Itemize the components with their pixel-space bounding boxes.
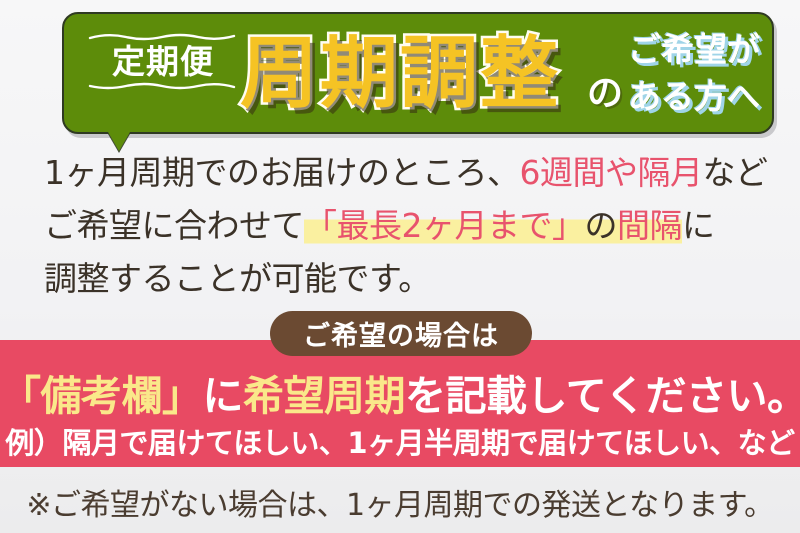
wave-rule-top-icon — [88, 32, 236, 41]
body-line1-part-e: など — [703, 153, 768, 192]
promo-banner-page: { "banner": { "badge_label": "定期便", "tit… — [0, 0, 800, 533]
body-line-2: ご希望に合わせて「最長2ヶ月まで」の間隔に — [44, 199, 774, 252]
body-line1-part-a: 1ヶ月周期でのお届けのところ、 — [44, 153, 520, 192]
pink-example-text: 例）隔月で届けてほしい、1ヶ月半周期で届けてほしい、など — [0, 420, 800, 462]
request-case-pill: ご希望の場合は — [270, 311, 532, 356]
subscription-badge-label: 定期便 — [112, 42, 214, 81]
pink-headline-part-d: を記載してください。 — [405, 372, 800, 420]
banner-title-particle: の — [587, 64, 623, 116]
body-line2-highlight-interval: 間隔 — [617, 206, 682, 245]
body-line1-part-c: や — [605, 153, 638, 192]
body-paragraph: 1ヶ月周期でのお届けのところ、6週間や隔月など ご希望に合わせて「最長2ヶ月まで… — [44, 146, 774, 305]
header-banner: 定期便 周期調整 の ご希望が ある方へ — [62, 12, 774, 134]
pink-headline-field-name: 「備考欄」 — [0, 372, 203, 420]
body-line2-part-a: ご希望に合わせて — [44, 206, 304, 245]
body-line-1: 1ヶ月周期でのお届けのところ、6週間や隔月など — [44, 146, 774, 199]
wave-rule-bottom-icon — [88, 82, 236, 91]
pink-headline-part-b: に — [203, 372, 244, 420]
banner-subtitle-line1: ご希望が — [628, 30, 760, 69]
banner-subtitle: ご希望が ある方へ — [624, 26, 764, 120]
body-line-3: 調整することが可能です。 — [44, 252, 774, 305]
body-line2-highlight-quote: 「最長2ヶ月まで」 — [304, 206, 585, 245]
banner-title: 周期調整 — [240, 22, 560, 126]
body-line2-part-c: の — [585, 206, 618, 245]
footer-note: ※ご希望がない場合は、1ヶ月周期での発送となります。 — [0, 480, 800, 524]
body-line1-part-b: 6週間 — [520, 153, 606, 192]
pink-headline: 「備考欄」に希望周期を記載してください。 — [0, 362, 800, 422]
pink-headline-cycle: 希望周期 — [243, 372, 405, 420]
body-line1-part-d: 隔月 — [638, 153, 703, 192]
subscription-badge: 定期便 — [88, 32, 238, 91]
body-line2-part-e: に — [682, 206, 715, 245]
banner-subtitle-line2: ある方へ — [628, 77, 760, 116]
request-case-pill-label: ご希望の場合は — [303, 314, 499, 353]
